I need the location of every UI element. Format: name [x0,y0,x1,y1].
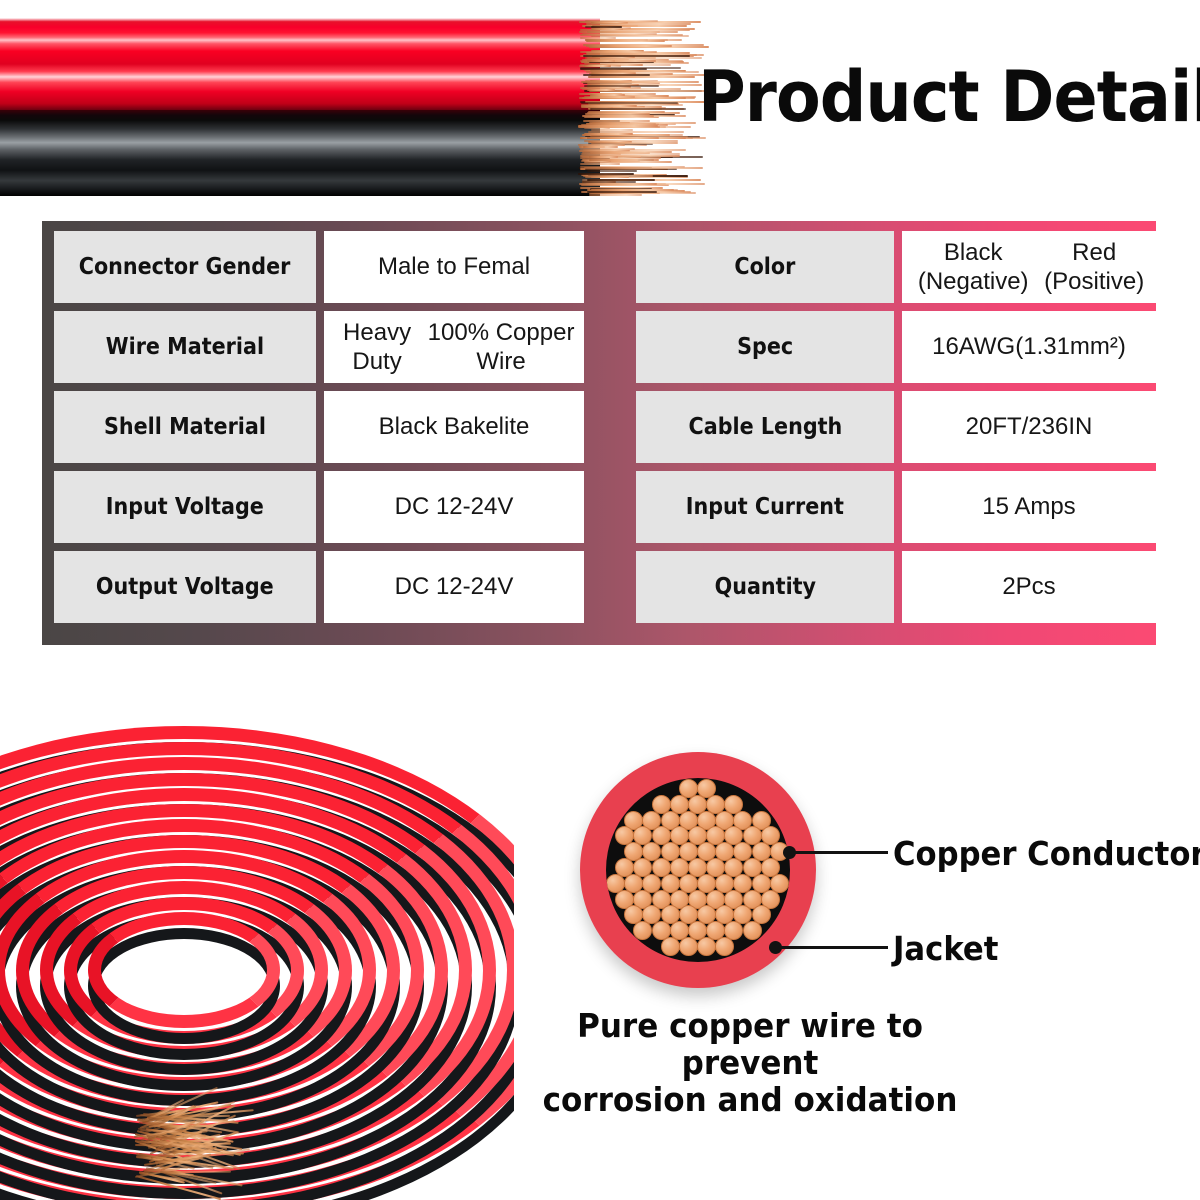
spec-value: 2Pcs [902,551,1156,623]
copper-strands-fray [578,14,708,200]
exposed-copper-tail [134,1112,254,1182]
table-row: Wire Material Heavy Duty100% Copper Wire [54,311,584,383]
spec-value: Heavy Duty100% Copper Wire [324,311,584,383]
table-row: Input Voltage DC 12-24V [54,471,584,543]
table-row: Connector Gender Male to Femal [54,231,584,303]
spec-value: 20FT/236IN [902,391,1156,463]
table-row: Color Black (Negative)Red (Positive) [636,231,1156,303]
red-wire-jacket [0,18,600,110]
diagram-caption: Pure copper wire to prevent corrosion an… [490,1008,1010,1119]
table-row: Output Voltage DC 12-24V [54,551,584,623]
spec-value: Black Bakelite [324,391,584,463]
caption-line-2: corrosion and oxidation [506,1082,995,1119]
table-row: Cable Length 20FT/236IN [636,391,1156,463]
spec-value: DC 12-24V [324,551,584,623]
copper-strand [697,937,716,956]
spec-value: Male to Femal [324,231,584,303]
copper-strand [743,921,762,940]
hero-banner: Product Details [0,0,1200,215]
spec-key: Connector Gender [54,231,316,303]
table-row: Input Current 15 Amps [636,471,1156,543]
callout-line-copper-conductor [789,851,888,854]
table-row: Quantity 2Pcs [636,551,1156,623]
coil-ring-red [88,912,280,1028]
spec-key: Color [636,231,894,303]
spec-key: Cable Length [636,391,894,463]
copper-strand [633,921,652,940]
spec-key: Input Current [636,471,894,543]
callout-line-jacket [775,946,888,949]
spec-value: 16AWG(1.31mm²) [902,311,1156,383]
spec-key: Quantity [636,551,894,623]
callout-label-jacket: Jacket [893,929,998,968]
copper-strand [661,937,680,956]
copper-strand [715,937,734,956]
spec-key: Spec [636,311,894,383]
spec-value: DC 12-24V [324,471,584,543]
product-photo-cable-end [0,18,600,196]
spec-key: Output Voltage [54,551,316,623]
spec-key: Wire Material [54,311,316,383]
table-row: Shell Material Black Bakelite [54,391,584,463]
copper-strand [679,937,698,956]
product-photo-coiled-cable [0,660,514,1200]
spec-value: 15 Amps [902,471,1156,543]
conductor-core [606,778,790,962]
caption-line-1: Pure copper wire to prevent [506,1008,995,1082]
table-row: Spec 16AWG(1.31mm²) [636,311,1156,383]
spec-table-right-column: Color Black (Negative)Red (Positive) Spe… [636,231,1156,635]
black-wire-jacket [0,110,600,196]
spec-value: Black (Negative)Red (Positive) [902,231,1156,303]
spec-table-left-column: Connector Gender Male to Femal Wire Mate… [54,231,584,635]
page-title: Product Details [698,62,1200,132]
spec-key: Input Voltage [54,471,316,543]
callout-label-copper-conductor: Copper Conductor [893,834,1200,873]
cable-cross-section-diagram [580,752,816,988]
spec-key: Shell Material [54,391,316,463]
spec-table: Connector Gender Male to Femal Wire Mate… [42,221,1156,645]
